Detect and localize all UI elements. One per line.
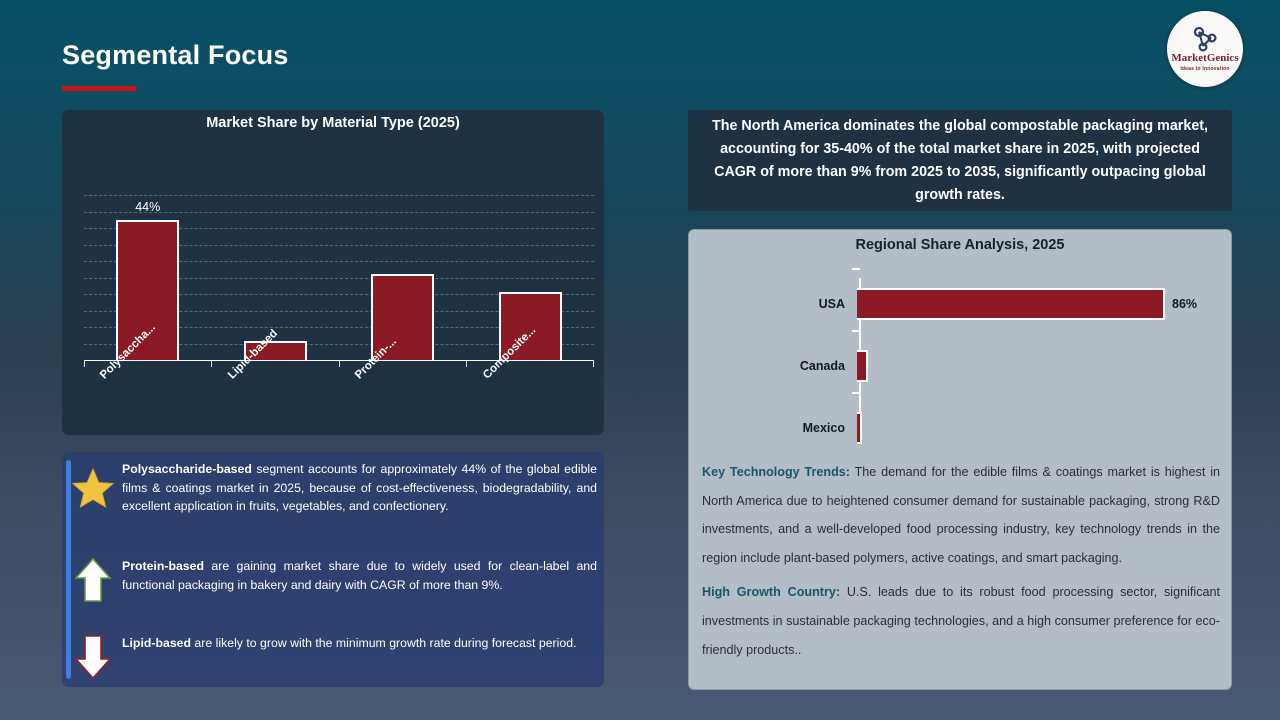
category-label: Mexico <box>689 421 855 435</box>
regional-callout-text: The North America dominates the global c… <box>700 115 1220 207</box>
regional-callout-banner: The North America dominates the global c… <box>688 110 1232 211</box>
material-chart-plot: 44% Polysaccha...Lipid-basedProtein-...C… <box>74 195 594 470</box>
paragraph-lead: Key Technology Trends: <box>702 465 850 479</box>
list-item-lead: Protein-based <box>122 559 204 573</box>
paragraph-lead: High Growth Country: <box>702 585 840 599</box>
bar-slot <box>339 195 467 360</box>
material-chart-title: Market Share by Material Type (2025) <box>62 110 604 131</box>
logo-brand-name: MarketGenics <box>1171 53 1238 64</box>
category-label-slot: Composite... <box>467 369 595 439</box>
category-label: USA <box>689 297 855 311</box>
axis-tick <box>852 392 860 394</box>
category-label-slot: Lipid-based <box>212 369 340 439</box>
regional-analysis-panel: Regional Share Analysis, 2025 USA86%Cana… <box>688 229 1232 690</box>
arrow-down-icon <box>64 634 122 680</box>
category-label-slot: Polysaccha... <box>84 369 212 439</box>
list-item: Protein-based are gaining market share d… <box>64 557 602 603</box>
logo-tagline: Ideas to Innovation <box>1180 66 1229 72</box>
list-item-text: Lipid-based are likely to grow with the … <box>122 634 597 680</box>
paragraph-body: The demand for the edible films & coatin… <box>702 465 1220 565</box>
regional-chart-plot: USA86%CanadaMexico <box>689 272 1233 454</box>
list-item: Polysaccharide-based segment accounts fo… <box>64 460 602 516</box>
x-axis-ticks <box>84 360 594 367</box>
axis-tick <box>852 268 860 270</box>
list-item-body: are likely to grow with the minimum grow… <box>191 636 576 650</box>
paragraph-high-growth-country: High Growth Country: U.S. leads due to i… <box>702 578 1220 664</box>
arrow-up-icon <box>64 557 122 603</box>
regional-body-text: Key Technology Trends: The demand for th… <box>702 458 1220 664</box>
title-underline-accent <box>62 86 136 91</box>
segment-notes-panel: Polysaccharide-based segment accounts fo… <box>62 452 604 687</box>
chart-row: Canada <box>689 346 1233 386</box>
axis-tick <box>339 360 466 367</box>
company-logo: MarketGenics Ideas to Innovation <box>1167 11 1243 87</box>
axis-tick <box>466 360 594 367</box>
list-item: Lipid-based are likely to grow with the … <box>64 634 602 680</box>
axis-tick <box>852 330 860 332</box>
bar-value-label: 86% <box>1172 297 1197 311</box>
x-axis-category-labels: Polysaccha...Lipid-basedProtein-...Compo… <box>84 369 594 439</box>
page-title: Segmental Focus <box>62 40 289 71</box>
axis-tick <box>211 360 338 367</box>
chart-bar <box>857 412 862 444</box>
chart-row: USA86% <box>689 284 1233 324</box>
material-share-chart-panel: Market Share by Material Type (2025) 44%… <box>62 110 604 435</box>
chart-row: Mexico <box>689 408 1233 448</box>
star-icon <box>64 460 122 516</box>
list-item-lead: Polysaccharide-based <box>122 462 252 476</box>
category-label-slot: Protein-... <box>339 369 467 439</box>
paragraph-key-technology-trends: Key Technology Trends: The demand for th… <box>702 458 1220 572</box>
regional-chart-title: Regional Share Analysis, 2025 <box>689 230 1231 253</box>
list-item-text: Polysaccharide-based segment accounts fo… <box>122 460 597 516</box>
list-item-text: Protein-based are gaining market share d… <box>122 557 597 603</box>
bar-value-label: 44% <box>135 200 160 214</box>
category-label: Canada <box>689 359 855 373</box>
chart-bar <box>857 350 868 382</box>
list-item-lead: Lipid-based <box>122 636 191 650</box>
network-nodes-icon <box>1190 26 1220 52</box>
chart-bar <box>857 288 1165 320</box>
